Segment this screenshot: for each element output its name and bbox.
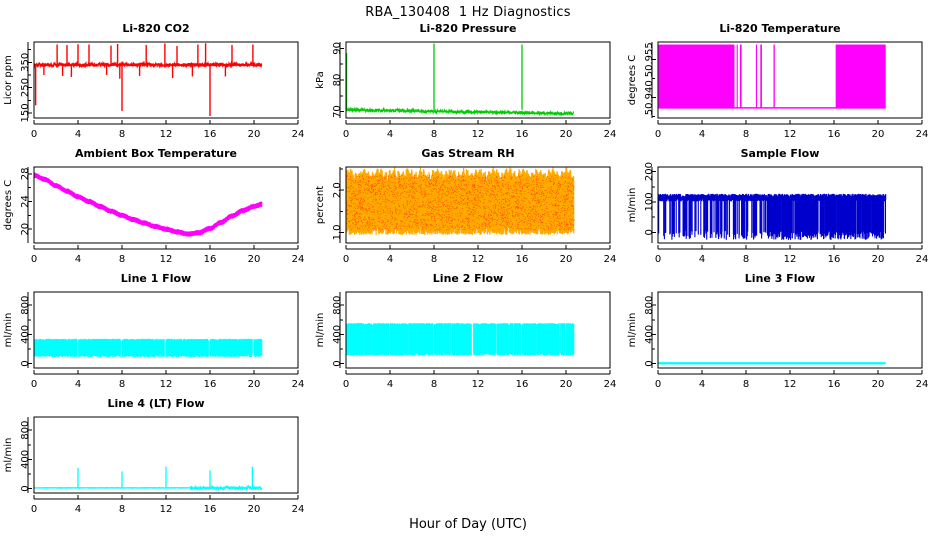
y-axis-label: ml/min [627,188,638,223]
y-tick-label: 0 [20,360,31,366]
x-tick-label: 24 [916,379,929,390]
x-tick-label: 24 [292,379,305,390]
panel-li-820-co2: Li-820 CO204812162024150250350Licor ppm [0,22,312,150]
x-tick-label: 0 [343,254,349,265]
x-tick-label: 20 [248,129,261,140]
x-tick-label: 4 [699,379,705,390]
x-tick-label: 0 [31,379,37,390]
x-tick-label: 8 [743,129,749,140]
x-tick-label: 16 [828,254,841,265]
plot-area: 048121620240400800ml/min [0,272,312,400]
x-tick-label: 4 [699,254,705,265]
y-axis-label: ml/min [3,438,14,473]
x-tick-label: 0 [31,129,37,140]
y-tick-label: 50.940 [644,80,655,115]
x-tick-label: 20 [560,254,573,265]
y-tick-label: 80 [332,74,343,87]
x-tick-label: 20 [560,379,573,390]
plot-area: 048121620240400800ml/min [0,397,312,525]
data-series [658,194,886,240]
x-tick-label: 4 [75,504,81,515]
x-tick-label: 8 [431,254,437,265]
y-tick-label: 150 [20,103,31,122]
x-tick-label: 0 [655,129,661,140]
y-tick-label: 28 [20,168,31,181]
x-tick-label: 12 [472,129,485,140]
x-tick-label: 0 [31,504,37,515]
panel-li-820-pressure: Li-820 Pressure04812162024708090kPa [312,22,624,150]
x-tick-label: 24 [604,379,617,390]
x-tick-label: 4 [387,254,393,265]
y-axis-label: degrees C [3,180,14,230]
x-tick-label: 12 [160,129,173,140]
data-series [34,339,262,357]
x-tick-label: 16 [204,254,217,265]
x-tick-label: 20 [248,254,261,265]
x-tick-label: 20 [872,379,885,390]
x-tick-label: 24 [292,504,305,515]
x-tick-label: 12 [784,379,797,390]
figure-title: RBA_130408 1 Hz Diagnostics [0,5,936,20]
y-tick-label: 1.0 [332,224,343,240]
x-tick-label: 12 [784,129,797,140]
plot-area: 0481216202450.94050.955degrees C [624,22,936,150]
x-tick-label: 20 [248,504,261,515]
y-tick-label: 800 [20,421,31,440]
x-tick-label: 12 [472,379,485,390]
y-tick-label: 20 [20,223,31,236]
data-series [34,467,262,490]
x-tick-label: 16 [516,129,529,140]
x-tick-label: 4 [699,129,705,140]
y-tick-label: 90 [332,42,343,55]
plot-area: 048121620240100200ml/min [624,147,936,275]
x-tick-label: 8 [119,379,125,390]
x-tick-label: 4 [75,254,81,265]
y-axis-label: kPa [315,71,326,89]
x-tick-label: 8 [743,379,749,390]
x-tick-label: 4 [387,379,393,390]
y-tick-label: 0 [644,229,655,235]
x-tick-label: 16 [828,129,841,140]
x-tick-label: 8 [743,254,749,265]
x-tick-label: 0 [31,254,37,265]
panel-line-1-flow: Line 1 Flow048121620240400800ml/min [0,272,312,400]
y-axis-label: ml/min [627,313,638,348]
data-series [34,173,262,237]
x-tick-label: 20 [872,129,885,140]
plot-area: 04812162024708090kPa [312,22,624,150]
panel-gas-stream-rh: Gas Stream RH048121620241.02.0percent [312,147,624,275]
x-tick-label: 12 [160,504,173,515]
data-series [34,43,262,116]
plot-area: 048121620240400800ml/min [312,272,624,400]
y-axis-label: ml/min [315,313,326,348]
figure-x-axis-label: Hour of Day (UTC) [0,517,936,532]
y-tick-label: 400 [20,325,31,344]
panel-line-3-flow: Line 3 Flow048121620240400800ml/min [624,272,936,400]
y-axis-label: ml/min [3,313,14,348]
y-tick-label: 400 [332,325,343,344]
y-axis-label: degrees C [627,55,638,105]
y-tick-label: 70 [332,105,343,118]
y-tick-label: 2.0 [332,182,343,198]
x-tick-label: 0 [655,379,661,390]
x-tick-label: 4 [387,129,393,140]
data-series [346,167,575,235]
x-tick-label: 12 [160,254,173,265]
y-tick-label: 800 [20,296,31,315]
plot-area: 04812162024202428degrees C [0,147,312,275]
x-tick-label: 12 [472,254,485,265]
x-tick-label: 16 [516,379,529,390]
x-tick-label: 24 [916,129,929,140]
x-tick-label: 4 [75,379,81,390]
data-series [346,323,574,356]
x-tick-label: 16 [204,129,217,140]
data-series [346,44,574,115]
x-tick-label: 20 [560,129,573,140]
plot-area: 04812162024150250350Licor ppm [0,22,312,150]
y-tick-label: 0 [644,360,655,366]
x-tick-label: 12 [784,254,797,265]
x-tick-label: 16 [204,379,217,390]
y-tick-label: 400 [20,450,31,469]
x-tick-label: 8 [119,254,125,265]
panel-li-820-temperature: Li-820 Temperature0481216202450.94050.95… [624,22,936,150]
y-axis-label: percent [315,186,326,224]
x-tick-label: 4 [75,129,81,140]
figure-canvas: RBA_130408 1 Hz Diagnostics Li-820 CO204… [0,0,936,540]
x-tick-label: 20 [872,254,885,265]
x-tick-label: 12 [160,379,173,390]
y-tick-label: 100 [644,192,655,211]
x-tick-label: 24 [604,129,617,140]
panel-sample-flow: Sample Flow048121620240100200ml/min [624,147,936,275]
x-tick-label: 8 [431,379,437,390]
x-tick-label: 16 [516,254,529,265]
panel-line-4-lt-flow: Line 4 (LT) Flow048121620240400800ml/min [0,397,312,525]
x-tick-label: 8 [119,504,125,515]
x-tick-label: 16 [828,379,841,390]
x-tick-label: 8 [119,129,125,140]
y-tick-label: 200 [644,162,655,181]
x-tick-label: 0 [343,129,349,140]
x-tick-label: 24 [604,254,617,265]
y-tick-label: 24 [20,195,31,208]
x-tick-label: 24 [916,254,929,265]
plot-area: 048121620241.02.0percent [312,147,624,275]
y-tick-label: 0 [332,360,343,366]
x-tick-label: 8 [431,129,437,140]
y-tick-label: 350 [20,53,31,72]
y-tick-label: 800 [332,296,343,315]
y-tick-label: 0 [20,485,31,491]
x-tick-label: 16 [204,504,217,515]
panel-line-2-flow: Line 2 Flow048121620240400800ml/min [312,272,624,400]
x-tick-label: 20 [248,379,261,390]
y-tick-label: 800 [644,296,655,315]
x-tick-label: 0 [343,379,349,390]
y-tick-label: 50.955 [644,42,655,77]
x-tick-label: 24 [292,129,305,140]
y-axis-label: Licor ppm [3,55,14,105]
y-tick-label: 400 [644,325,655,344]
x-tick-label: 0 [655,254,661,265]
y-tick-label: 250 [20,78,31,97]
data-series [659,45,886,108]
x-tick-label: 24 [292,254,305,265]
plot-area: 048121620240400800ml/min [624,272,936,400]
panel-ambient-box-temperature: Ambient Box Temperature04812162024202428… [0,147,312,275]
